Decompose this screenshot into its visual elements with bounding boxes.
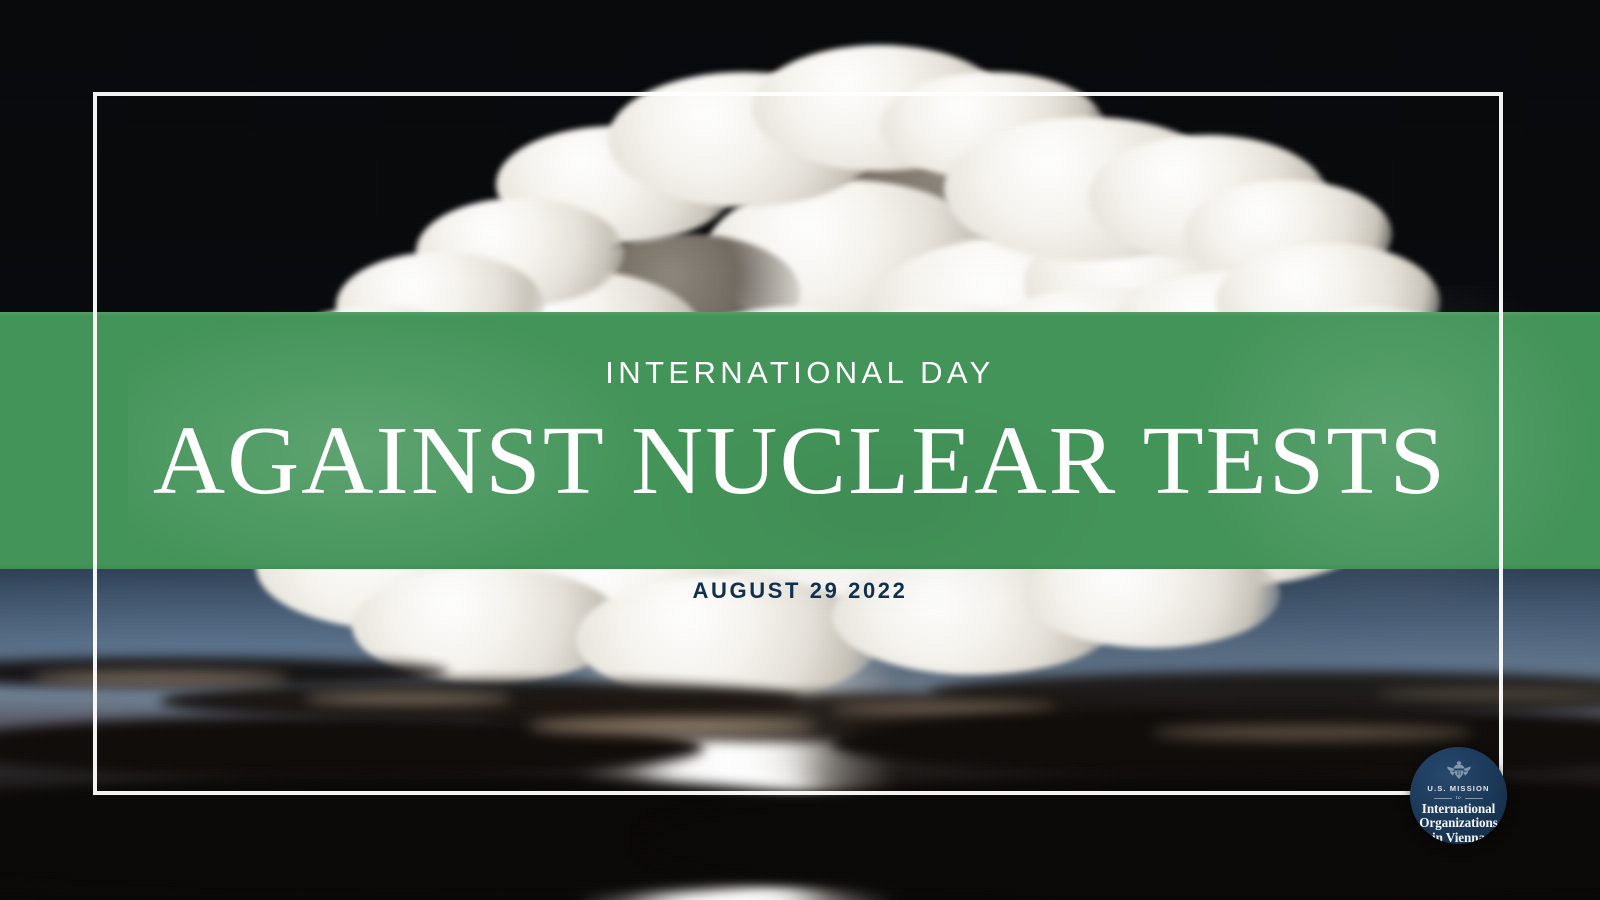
divider-line-right (1465, 798, 1483, 799)
org-line-3: in Vienna (1410, 831, 1507, 845)
page-title: AGAINST NUCLEAR TESTS (0, 412, 1600, 510)
poster-canvas: INTERNATIONAL DAY AGAINST NUCLEAR TESTS … (0, 0, 1600, 900)
us-great-seal-eagle-icon (1446, 759, 1472, 781)
us-mission-logo: U.S. MISSION to International Organizati… (1410, 747, 1507, 844)
org-line-1: International (1410, 802, 1507, 816)
divider-line-left (1434, 798, 1452, 799)
org-line-2: Organizations (1410, 816, 1507, 830)
kicker-text: INTERNATIONAL DAY (0, 355, 1600, 391)
organization-name: International Organizations in Vienna (1410, 802, 1507, 844)
mission-label: U.S. MISSION (1410, 784, 1507, 793)
event-date: AUGUST 29 2022 (0, 578, 1600, 604)
